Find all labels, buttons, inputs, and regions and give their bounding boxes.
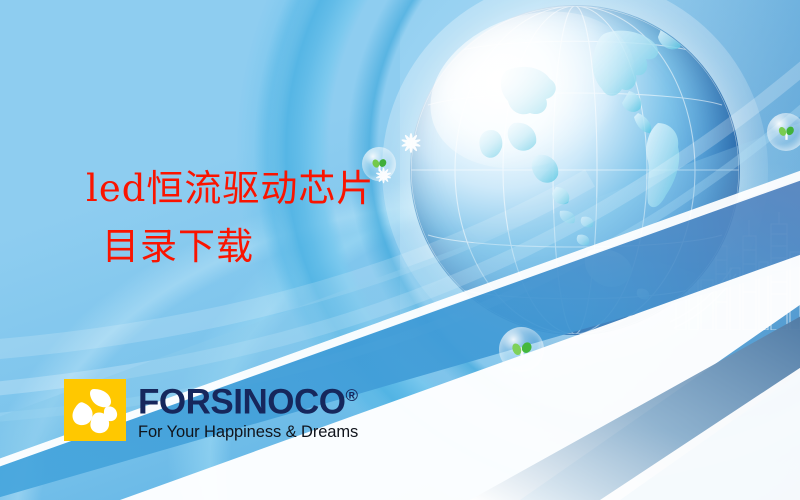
pinwheel-petals-icon — [64, 379, 126, 441]
logo-tagline: For Your Happiness & Dreams — [138, 422, 358, 442]
earth-globe — [410, 5, 740, 335]
registered-trademark-symbol: ® — [345, 386, 358, 405]
logo-text-block: FORSINOCO® For Your Happiness & Dreams — [138, 378, 358, 442]
bubble-sprout-lower — [499, 327, 544, 372]
forsinoco-pinwheel-mark-icon — [64, 379, 126, 441]
promo-banner: led恒流驱动芯片 目录下载 FORSINOCO® For Your Happi… — [0, 0, 800, 500]
forsinoco-logo: FORSINOCO® For Your Happiness & Dreams — [64, 378, 358, 442]
globe-reflection — [416, 255, 736, 365]
green-sprout-icon — [776, 122, 797, 143]
headline-line-1: led恒流驱动芯片 — [86, 167, 374, 210]
logo-wordmark-text: FORSINOCO — [138, 383, 345, 422]
bubble-sprout-right — [767, 113, 800, 151]
logo-wordmark: FORSINOCO® — [138, 378, 358, 421]
headline-line-2: 目录下载 — [86, 218, 374, 276]
flower-burst-upper-icon — [399, 131, 423, 155]
headline: led恒流驱动芯片 目录下载 — [86, 160, 374, 276]
green-sprout-icon — [509, 337, 535, 363]
